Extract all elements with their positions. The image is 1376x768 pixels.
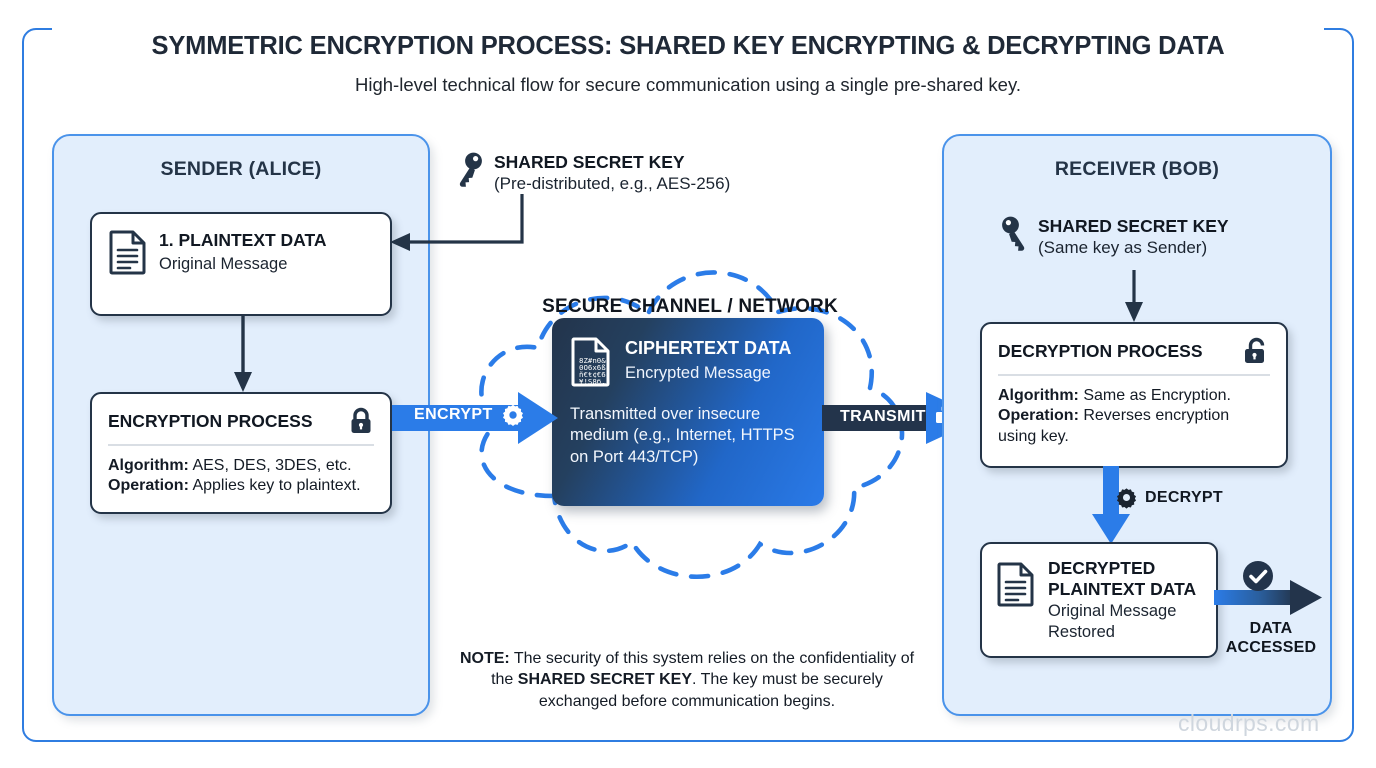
plaintext-data-card[interactable]: 1. PLAINTEXT DATA Original Message — [90, 212, 392, 316]
watermark: cloudrps.com — [1178, 710, 1320, 737]
card-divider — [998, 374, 1270, 376]
ciphertext-card-body: Transmitted over insecure medium (e.g., … — [570, 404, 808, 468]
sender-flow-arrow — [225, 314, 261, 396]
ciphertext-card-subtitle: Encrypted Message — [625, 363, 791, 384]
svg-text:¥!S8б…: ¥!S8б… — [579, 377, 606, 386]
gear-icon — [502, 404, 524, 426]
encrypt-badge: ENCRYPT — [414, 404, 524, 426]
shared-key-sender-title: SHARED SECRET KEY — [494, 152, 730, 173]
open-padlock-icon — [1242, 337, 1270, 365]
page-title: SYMMETRIC ENCRYPTION PROCESS: SHARED KEY… — [0, 32, 1376, 61]
encryption-card-title: ENCRYPTION PROCESS — [108, 411, 313, 432]
decrypted-card-subtitle-line1: Original Message — [1048, 601, 1196, 621]
key-to-decryption-arrow — [1116, 270, 1152, 326]
ciphertext-data-card[interactable]: 8Z#n0& 0O6x6ß ñ€ŧ¢€6 ¥!S8б… CIPHERTEXT D… — [552, 318, 824, 506]
data-accessed-label: DATA ACCESSED — [1216, 620, 1326, 657]
plaintext-card-subtitle: Original Message — [159, 254, 327, 274]
decrypt-label: DECRYPT — [1145, 489, 1223, 507]
card-divider — [108, 444, 374, 446]
document-icon — [996, 560, 1036, 608]
encrypted-document-icon: 8Z#n0& 0O6x6ß ñ€ŧ¢€6 ¥!S8б… — [570, 336, 612, 388]
encryption-algorithm-label: Algorithm: — [108, 457, 189, 474]
note-prefix: NOTE: — [460, 650, 510, 667]
decryption-card-title: DECRYPTION PROCESS — [998, 341, 1203, 362]
decrypted-plaintext-card[interactable]: DECRYPTED PLAINTEXT DATA Original Messag… — [980, 542, 1218, 658]
decrypted-card-title-line2: PLAINTEXT DATA — [1048, 579, 1196, 600]
sender-panel-title: SENDER (ALICE) — [54, 158, 428, 181]
note-emphasis: SHARED SECRET KEY — [518, 671, 692, 688]
decryption-algorithm-label: Algorithm: — [998, 387, 1079, 404]
shared-secret-key-sender: SHARED SECRET KEY (Pre-distributed, e.g.… — [456, 152, 730, 195]
encryption-process-card[interactable]: ENCRYPTION PROCESS Algorithm: AES, DES, … — [90, 392, 392, 514]
encryption-operation-row: Operation: Applies key to plaintext. — [108, 476, 374, 497]
plaintext-card-title: 1. PLAINTEXT DATA — [159, 230, 327, 251]
shared-key-receiver-subtitle: (Same key as Sender) — [1038, 237, 1229, 259]
shared-key-sender-subtitle: (Pre-distributed, e.g., AES-256) — [494, 173, 730, 195]
transmit-label: TRANSMIT — [840, 408, 926, 426]
ciphertext-card-title: CIPHERTEXT DATA — [625, 338, 791, 360]
encryption-operation-label: Operation: — [108, 477, 189, 494]
shared-key-receiver-title: SHARED SECRET KEY — [1038, 216, 1229, 237]
page-subtitle: High-level technical flow for secure com… — [0, 74, 1376, 96]
key-icon — [1000, 216, 1028, 252]
check-circle-icon — [1242, 560, 1274, 592]
decryption-algorithm-value: Same as Encryption. — [1079, 387, 1231, 404]
encryption-algorithm-row: Algorithm: AES, DES, 3DES, etc. — [108, 456, 374, 477]
closed-padlock-icon — [348, 407, 374, 435]
key-icon — [456, 152, 484, 188]
secure-channel-title: SECURE CHANNEL / NETWORK — [460, 296, 920, 318]
decryption-process-card[interactable]: DECRYPTION PROCESS Algorithm: Same as En… — [980, 322, 1288, 468]
decrypted-card-subtitle-line2: Restored — [1048, 622, 1196, 642]
decryption-algorithm-row: Algorithm: Same as Encryption. — [998, 386, 1270, 407]
gear-icon — [1116, 487, 1137, 508]
receiver-panel-title: RECEIVER (BOB) — [944, 158, 1330, 181]
decryption-operation-row: Operation: Reverses encryption using key… — [998, 406, 1270, 448]
shared-secret-key-receiver: SHARED SECRET KEY (Same key as Sender) — [1000, 216, 1229, 259]
encryption-algorithm-value: AES, DES, 3DES, etc. — [189, 457, 352, 474]
diagram-canvas: SYMMETRIC ENCRYPTION PROCESS: SHARED KEY… — [0, 0, 1376, 768]
document-icon — [108, 228, 148, 276]
decryption-operation-label: Operation: — [998, 407, 1079, 424]
note-text: NOTE: The security of this system relies… — [452, 648, 922, 712]
decrypted-card-title-line1: DECRYPTED — [1048, 558, 1196, 579]
encryption-operation-value: Applies key to plaintext. — [189, 477, 361, 494]
encrypt-label: ENCRYPT — [414, 406, 493, 424]
decrypt-step-label: DECRYPT — [1116, 487, 1223, 508]
